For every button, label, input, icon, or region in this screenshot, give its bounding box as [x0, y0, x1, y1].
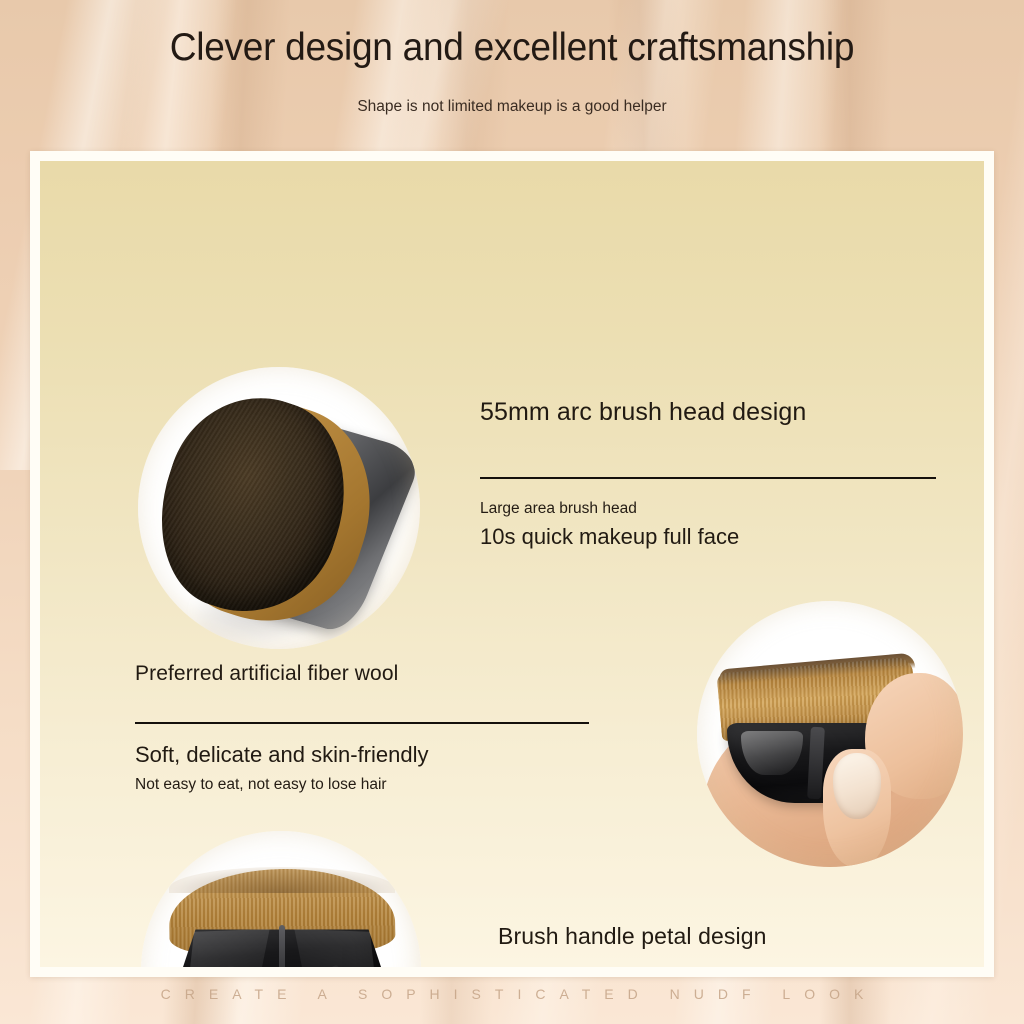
feature-heading: Brush handle petal design [498, 923, 948, 951]
content-panel-frame: 55mm arc brush head design Large area br… [30, 151, 994, 977]
petal-facet-right [291, 929, 375, 967]
content-panel: 55mm arc brush head design Large area br… [40, 161, 984, 967]
page-subtitle: Shape is not limited makeup is a good he… [0, 73, 1024, 117]
feature-block-arc-head: 55mm arc brush head design Large area br… [480, 397, 938, 551]
feature-subtext-large: 10s quick makeup full face [480, 523, 938, 550]
feature-heading: 55mm arc brush head design [480, 397, 938, 427]
feature-subtext-small: Large area brush head [480, 500, 938, 517]
hand-hold-photo [697, 601, 963, 867]
petal-bristle-shading [169, 867, 395, 893]
feature-block-petal-design: Brush handle petal design Ergonomic comp… [498, 923, 948, 967]
feature-subtext-small: Not easy to eat, not easy to lose hair [135, 776, 591, 793]
brush-head-photo [138, 367, 420, 649]
petal-facet-left [189, 929, 273, 967]
petal-handle-photo [141, 831, 421, 967]
feature-divider [135, 722, 589, 724]
feature-subtext-large: Soft, delicate and skin-friendly [135, 741, 591, 768]
petal-seam-vertical [279, 925, 285, 967]
feature-heading: Preferred artificial fiber wool [135, 661, 591, 686]
footer-tagline: CREATE A SOPHISTICATED NUDF LOOK [0, 986, 1024, 1002]
footer: CREATE A SOPHISTICATED NUDF LOOK [0, 986, 1024, 1002]
product-infographic: Clever design and excellent craftsmanshi… [0, 0, 1024, 1024]
feature-divider [480, 477, 936, 479]
hand-fingernail [833, 753, 881, 819]
feature-block-fiber-wool: Preferred artificial fiber wool Soft, de… [135, 661, 591, 794]
page-title: Clever design and excellent craftsmanshi… [26, 0, 999, 73]
header: Clever design and excellent craftsmanshi… [0, 0, 1024, 117]
